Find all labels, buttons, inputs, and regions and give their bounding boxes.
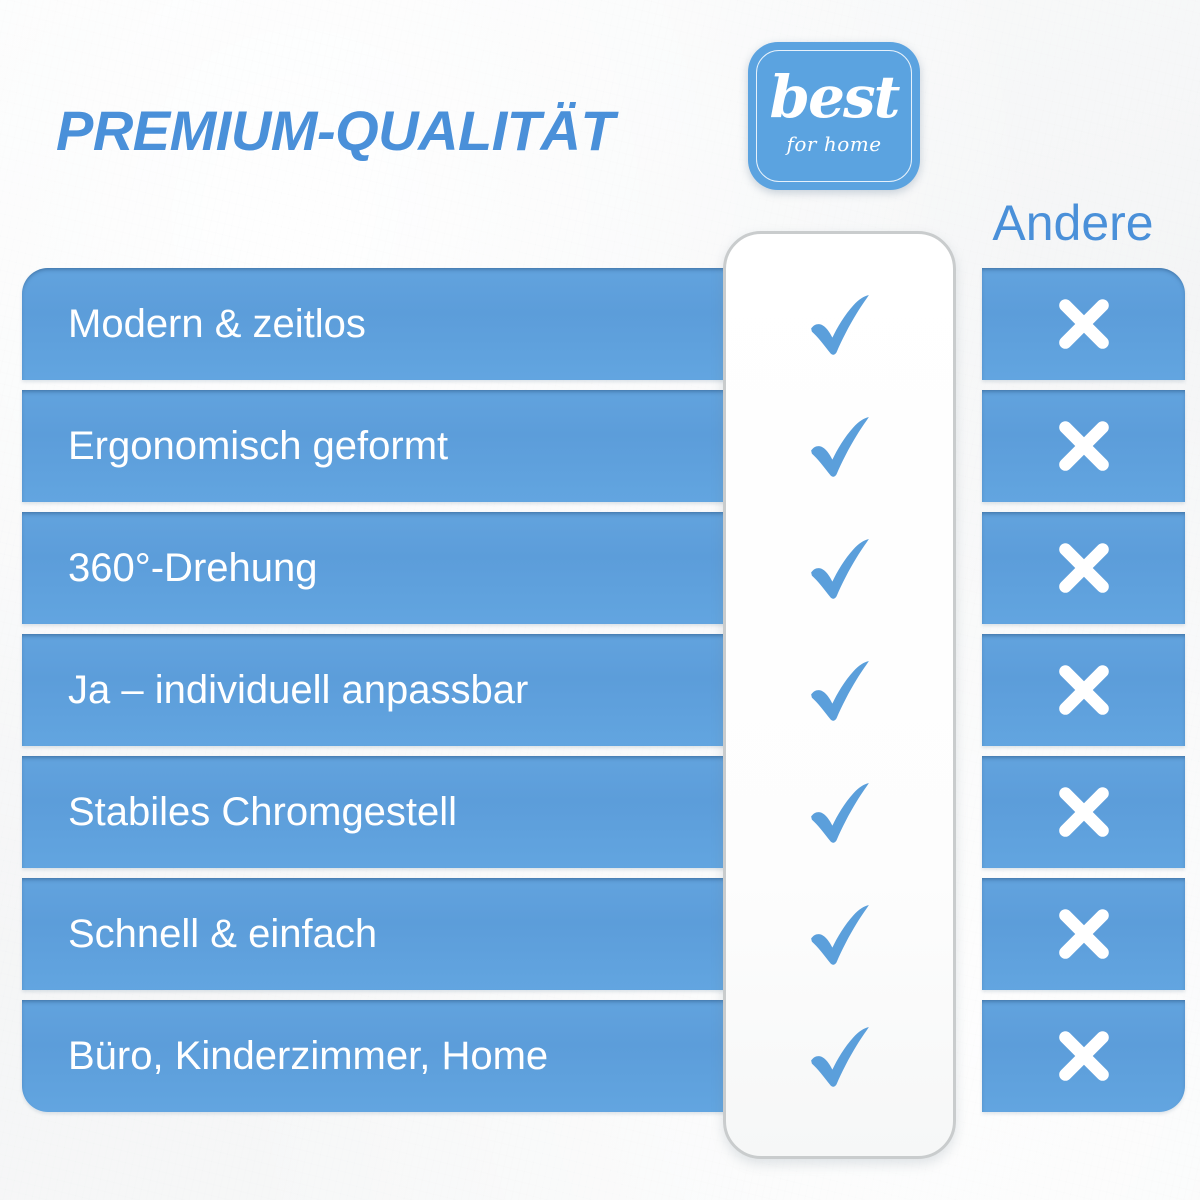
brand-logo: best for home <box>748 42 920 190</box>
feature-label: Büro, Kinderzimmer, Home <box>22 1034 548 1078</box>
cross-mark-icon <box>1053 537 1115 599</box>
table-row: Schnell & einfach <box>22 878 1185 990</box>
feature-cell: Stabiles Chromgestell <box>22 756 750 868</box>
table-row: Stabiles Chromgestell <box>22 756 1185 868</box>
column-header-other: Andere <box>962 198 1184 248</box>
cross-mark-icon <box>1053 1025 1115 1087</box>
other-cell <box>982 878 1185 990</box>
feature-cell: Ja – individuell anpassbar <box>22 634 750 746</box>
cross-mark-icon <box>1053 781 1115 843</box>
feature-label: Ja – individuell anpassbar <box>22 668 528 712</box>
cross-mark-icon <box>1053 415 1115 477</box>
logo-tagline: for home <box>748 134 920 154</box>
feature-label: Ergonomisch geformt <box>22 424 448 468</box>
feature-cell: Schnell & einfach <box>22 878 750 990</box>
feature-label: Schnell & einfach <box>22 912 377 956</box>
table-row: Ja – individuell anpassbar <box>22 634 1185 746</box>
other-cell <box>982 1000 1185 1112</box>
feature-cell: Ergonomisch geformt <box>22 390 750 502</box>
feature-label: 360°-Drehung <box>22 546 318 590</box>
other-cell <box>982 512 1185 624</box>
feature-label: Modern & zeitlos <box>22 302 366 346</box>
comparison-table: Modern & zeitlos Ergonomisch geformt 360… <box>22 268 1185 1112</box>
feature-label: Stabiles Chromgestell <box>22 790 457 834</box>
table-row: Modern & zeitlos <box>22 268 1185 380</box>
table-row: Ergonomisch geformt <box>22 390 1185 502</box>
other-cell <box>982 390 1185 502</box>
other-cell <box>982 756 1185 868</box>
cross-mark-icon <box>1053 659 1115 721</box>
logo-wordmark: best <box>748 68 920 126</box>
cross-mark-icon <box>1053 903 1115 965</box>
best-column-highlight-card <box>723 231 956 1159</box>
feature-cell: Modern & zeitlos <box>22 268 750 380</box>
table-row: 360°-Drehung <box>22 512 1185 624</box>
other-cell <box>982 268 1185 380</box>
feature-cell: Büro, Kinderzimmer, Home <box>22 1000 750 1112</box>
table-row: Büro, Kinderzimmer, Home <box>22 1000 1185 1112</box>
cross-mark-icon <box>1053 293 1115 355</box>
page-title: PREMIUM-QUALITÄT <box>56 98 614 163</box>
feature-cell: 360°-Drehung <box>22 512 750 624</box>
other-cell <box>982 634 1185 746</box>
